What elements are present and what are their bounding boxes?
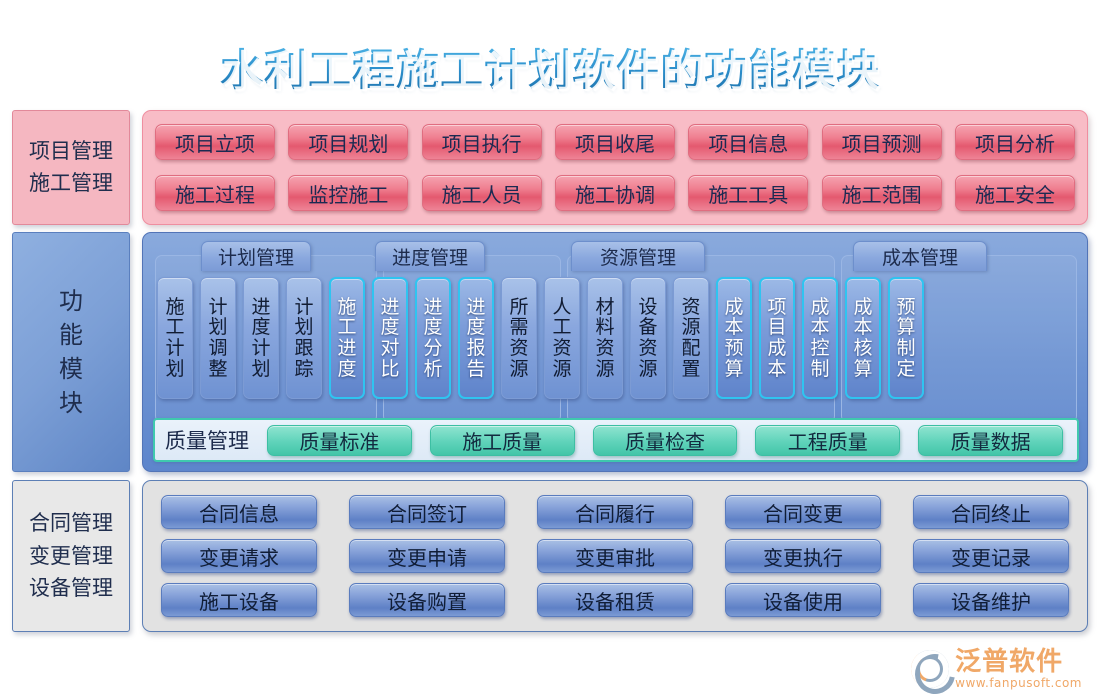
chip-label: 进度分析 [423,297,442,379]
equipment-row: 施工设备 设备购置 设备租赁 设备使用 设备维护 [161,583,1069,617]
chip-contract-item[interactable]: 合同变更 [725,495,881,529]
group-tab-progress[interactable]: 进度管理 [375,241,485,271]
chip-function-item[interactable]: 项目成本 [759,277,795,399]
chip-function-item[interactable]: 进度对比 [372,277,408,399]
contract-management-panel: 合同信息 合同签订 合同履行 合同变更 合同终止 变更请求 变更申请 变更审批 … [142,480,1088,632]
chip-quality-item[interactable]: 质量标准 [267,425,412,456]
chip-function-item[interactable]: 进度计划 [243,277,279,399]
chip-project-item[interactable]: 项目执行 [422,124,542,160]
chip-project-item[interactable]: 项目收尾 [555,124,675,160]
quality-management-label: 质量管理 [165,425,249,455]
chip-label: 进度对比 [380,297,399,379]
chip-equipment-item[interactable]: 设备购置 [349,583,505,617]
project-management-panel: 项目立项 项目规划 项目执行 项目收尾 项目信息 项目预测 项目分析 施工过程 … [142,110,1088,225]
chip-function-item[interactable]: 成本核算 [845,277,881,399]
chip-label: 材料资源 [595,297,614,379]
chip-function-item[interactable]: 进度报告 [458,277,494,399]
chip-change-item[interactable]: 变更审批 [537,539,693,573]
chip-contract-item[interactable]: 合同终止 [913,495,1069,529]
chip-function-item[interactable]: 计划跟踪 [286,277,322,399]
chip-equipment-item[interactable]: 设备维护 [913,583,1069,617]
function-module-section: 功能模块 计划管理 进度管理 资源管理 成本管理 施工计划 计划调整 进度计划 … [12,232,1088,472]
fanpu-logo-icon [911,650,949,688]
side-label-line: 设备管理 [29,572,113,605]
chip-function-item[interactable]: 施工进度 [329,277,365,399]
function-module-side-label: 功能模块 [12,232,130,472]
chip-label: 计划跟踪 [294,297,313,379]
group-tab-cost[interactable]: 成本管理 [853,241,987,271]
chip-function-item[interactable]: 所需资源 [501,277,537,399]
side-label-line: 合同管理 [29,507,113,540]
chip-label: 资源配置 [681,297,700,379]
chip-contract-item[interactable]: 合同信息 [161,495,317,529]
chip-function-item[interactable]: 成本控制 [802,277,838,399]
chip-project-item[interactable]: 项目预测 [822,124,942,160]
project-management-side-label: 项目管理 施工管理 [12,110,130,225]
group-tab-resource[interactable]: 资源管理 [571,241,705,271]
chip-construction-item[interactable]: 施工过程 [155,175,275,211]
chip-function-item[interactable]: 施工计划 [157,277,193,399]
page-title: 水利工程施工计划软件的功能模块 [0,36,1100,98]
side-label-line: 项目管理 [29,136,113,168]
change-row: 变更请求 变更申请 变更审批 变更执行 变更记录 [161,539,1069,573]
chip-quality-item[interactable]: 质量数据 [918,425,1063,456]
chip-function-item[interactable]: 人工资源 [544,277,580,399]
chip-change-item[interactable]: 变更请求 [161,539,317,573]
chip-label: 设备资源 [638,297,657,379]
project-row-2: 施工过程 监控施工 施工人员 施工协调 施工工具 施工范围 施工安全 [155,175,1075,211]
chip-label: 成本控制 [810,297,829,379]
contract-management-side-label: 合同管理 变更管理 设备管理 [12,480,130,632]
chip-function-item[interactable]: 成本预算 [716,277,752,399]
chip-label: 成本核算 [853,297,872,379]
chip-equipment-item[interactable]: 设备租赁 [537,583,693,617]
chip-change-item[interactable]: 变更执行 [725,539,881,573]
infographic-root: 水利工程施工计划软件的功能模块 水利工程施工计划软件的功能模块 项目管理 施工管… [0,0,1100,700]
chip-label: 进度计划 [251,297,270,379]
chip-project-item[interactable]: 项目立项 [155,124,275,160]
contract-management-section: 合同管理 变更管理 设备管理 合同信息 合同签订 合同履行 合同变更 合同终止 … [12,480,1088,632]
chip-construction-item[interactable]: 施工人员 [422,175,542,211]
group-tab-bar: 计划管理 进度管理 资源管理 成本管理 [153,241,1079,271]
function-module-panel: 计划管理 进度管理 资源管理 成本管理 施工计划 计划调整 进度计划 计划跟踪 … [142,232,1088,472]
chip-quality-item[interactable]: 工程质量 [755,425,900,456]
chip-construction-item[interactable]: 施工范围 [822,175,942,211]
chip-function-item[interactable]: 资源配置 [673,277,709,399]
group-tab-plan[interactable]: 计划管理 [201,241,311,271]
brand-url: www.fanpusoft.com [955,676,1082,690]
chip-label: 计划调整 [208,297,227,379]
chip-quality-item[interactable]: 质量检查 [593,425,738,456]
chip-label: 所需资源 [509,297,528,379]
chip-project-item[interactable]: 项目分析 [955,124,1075,160]
chip-label: 项目成本 [767,297,786,379]
project-row-1: 项目立项 项目规划 项目执行 项目收尾 项目信息 项目预测 项目分析 [155,124,1075,160]
chip-function-item[interactable]: 设备资源 [630,277,666,399]
chip-label: 人工资源 [552,297,571,379]
chip-label: 进度报告 [466,297,485,379]
chip-equipment-item[interactable]: 施工设备 [161,583,317,617]
chip-equipment-item[interactable]: 设备使用 [725,583,881,617]
chip-function-item[interactable]: 预算制定 [888,277,924,399]
chip-construction-item[interactable]: 施工安全 [955,175,1075,211]
project-management-section: 项目管理 施工管理 项目立项 项目规划 项目执行 项目收尾 项目信息 项目预测 … [12,110,1088,225]
chip-label: 施工计划 [165,297,184,379]
side-label-line: 施工管理 [29,168,113,200]
chip-label: 施工进度 [337,297,356,379]
chip-label: 成本预算 [724,297,743,379]
contract-row: 合同信息 合同签订 合同履行 合同变更 合同终止 [161,495,1069,529]
side-label-line: 变更管理 [29,540,113,573]
chip-quality-item[interactable]: 施工质量 [430,425,575,456]
chip-project-item[interactable]: 项目规划 [288,124,408,160]
chip-contract-item[interactable]: 合同履行 [537,495,693,529]
chip-function-item[interactable]: 计划调整 [200,277,236,399]
chip-construction-item[interactable]: 施工协调 [555,175,675,211]
chip-change-item[interactable]: 变更申请 [349,539,505,573]
chip-change-item[interactable]: 变更记录 [913,539,1069,573]
chip-project-item[interactable]: 项目信息 [688,124,808,160]
chip-function-item[interactable]: 进度分析 [415,277,451,399]
function-chips-row: 施工计划 计划调整 进度计划 计划跟踪 施工进度 进度对比 进度分析 进度报告 … [157,277,924,399]
chip-construction-item[interactable]: 施工工具 [688,175,808,211]
quality-management-strip: 质量管理 质量标准 施工质量 质量检查 工程质量 质量数据 [153,418,1079,462]
brand-name: 泛普软件 [955,649,1082,676]
chip-construction-item[interactable]: 监控施工 [288,175,408,211]
brand-logo: 泛普软件 www.fanpusoft.com [911,649,1082,690]
chip-function-item[interactable]: 材料资源 [587,277,623,399]
chip-label: 预算制定 [896,297,915,379]
brand-text: 泛普软件 www.fanpusoft.com [955,649,1082,690]
chip-contract-item[interactable]: 合同签订 [349,495,505,529]
